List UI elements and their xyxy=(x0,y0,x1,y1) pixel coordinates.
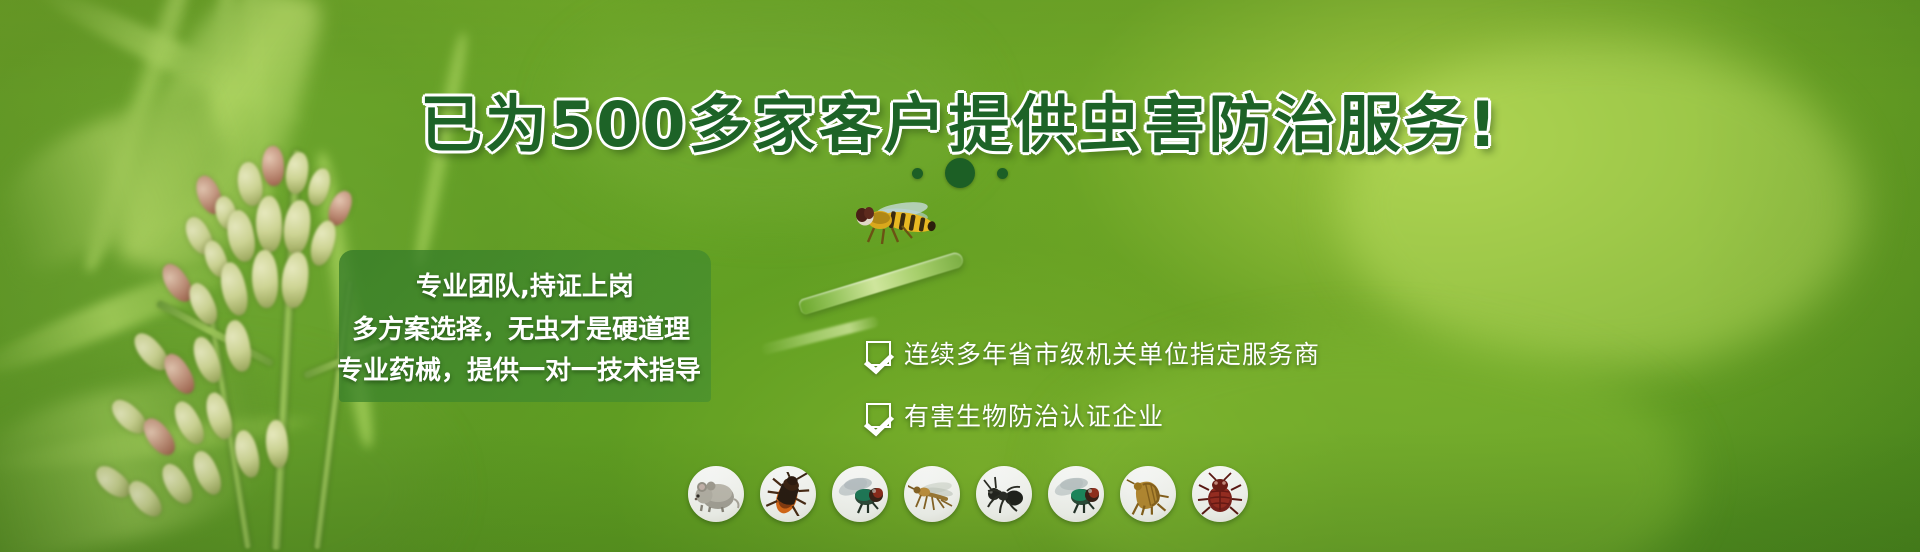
decorative-dots xyxy=(0,158,1920,188)
pest-control-banner: 已为500多家客户提供虫害防治服务! 专业团队,持证上岗 多方案选择，无虫才是硬… xyxy=(0,0,1920,552)
fly-green-icon[interactable] xyxy=(1048,466,1104,522)
bullet-label: 有害生物防治认证企业 xyxy=(904,397,1164,433)
mosquito-icon[interactable] xyxy=(904,466,960,522)
cockroach-icon[interactable] xyxy=(760,466,816,522)
certification-bullets: 连续多年省市级机关单位指定服务商 有害生物防治认证企业 xyxy=(866,335,1320,433)
ant-icon[interactable] xyxy=(976,466,1032,522)
plant-twig xyxy=(798,251,965,316)
bullet-item: 连续多年省市级机关单位指定服务商 xyxy=(866,335,1320,371)
checkbox-checked-icon xyxy=(866,403,891,428)
plant-twig-secondary xyxy=(760,316,879,356)
bedbug-icon[interactable] xyxy=(1192,466,1248,522)
claim-line-3: 专业药械，提供一对一技术指导 xyxy=(304,350,734,387)
checkbox-checked-icon xyxy=(866,341,891,366)
hoverfly-icon xyxy=(846,196,946,248)
bullet-item: 有害生物防治认证企业 xyxy=(866,397,1320,433)
dot-small-left-icon xyxy=(912,168,923,179)
fly-icon[interactable] xyxy=(832,466,888,522)
flea-icon[interactable] xyxy=(1120,466,1176,522)
pest-icon-row xyxy=(688,466,1248,522)
dot-large-center-icon xyxy=(945,158,975,188)
banner-headline-text: 已为500多家客户提供虫害防治服务! xyxy=(420,88,1500,161)
claim-line-1: 专业团队,持证上岗 xyxy=(416,266,634,303)
banner-headline: 已为500多家客户提供虫害防治服务! xyxy=(0,74,1920,164)
claims-panel: 专业团队,持证上岗 多方案选择，无虫才是硬道理 专业药械，提供一对一技术指导 xyxy=(339,250,711,402)
dot-small-right-icon xyxy=(997,168,1008,179)
mouse-icon[interactable] xyxy=(688,466,744,522)
bullet-label: 连续多年省市级机关单位指定服务商 xyxy=(904,335,1320,371)
claim-line-2: 多方案选择，无虫才是硬道理 xyxy=(311,309,731,346)
